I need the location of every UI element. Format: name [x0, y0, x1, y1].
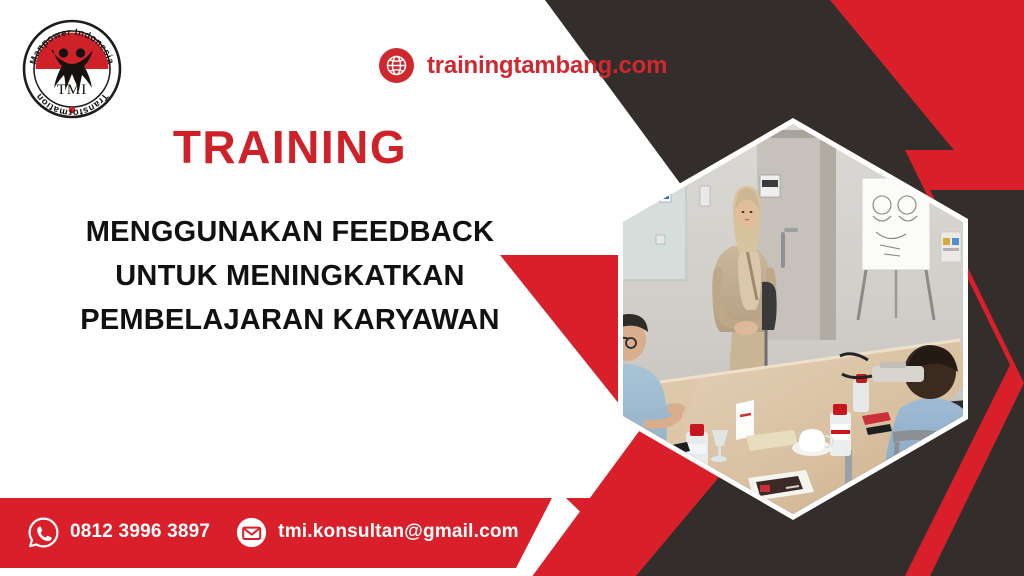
training-poster: TMI Manpower Indonesia Transformation	[0, 0, 1024, 576]
participant-right	[883, 345, 976, 520]
tent-card	[736, 400, 754, 440]
phone-left	[645, 442, 690, 460]
table-document	[746, 430, 798, 451]
photo-frame-border	[618, 118, 968, 520]
presenter-figure	[713, 186, 772, 396]
globe-icon	[379, 48, 414, 83]
charcoal-tip-right	[930, 190, 1024, 576]
contact-row: 0812 3996 3897 tmi.konsultan@gmail.com	[28, 515, 519, 549]
logo-monogram: TMI	[57, 82, 88, 98]
participant-left	[588, 314, 685, 486]
email-address[interactable]: tmi.konsultan@gmail.com	[278, 521, 519, 543]
email-contact[interactable]: tmi.konsultan@gmail.com	[236, 517, 519, 548]
brochure	[748, 470, 814, 501]
table-bottle-far	[853, 374, 869, 412]
meeting-table	[618, 340, 968, 520]
website-row[interactable]: trainingtambang.com	[379, 48, 667, 83]
table-glass	[711, 430, 728, 462]
whatsapp-number[interactable]: 0812 3996 3897	[70, 521, 210, 543]
whatsapp-contact[interactable]: 0812 3996 3897	[28, 517, 210, 548]
subtitle-line-3: PEMBELAJARAN KARYAWAN	[0, 298, 580, 342]
charcoal-overlay	[623, 0, 1024, 576]
whatsapp-icon	[28, 517, 59, 548]
remote	[866, 424, 892, 435]
red-panel	[660, 0, 1024, 576]
subtitle-line-2: UNTUK MENINGKATKAN	[0, 254, 580, 298]
bright-red-panel	[700, 0, 1024, 576]
table-bottle-left	[686, 424, 708, 474]
floor-outlet	[878, 467, 901, 492]
photo-content	[588, 110, 1000, 530]
website-url[interactable]: trainingtambang.com	[427, 52, 667, 80]
page-title: TRAINING	[0, 124, 580, 170]
projector	[840, 354, 924, 382]
subtitle-line-1: MENGGUNAKAN FEEDBACK	[0, 210, 580, 254]
tmi-logo: TMI Manpower Indonesia Transformation	[17, 14, 127, 124]
subtitle-block: MENGGUNAKAN FEEDBACK UNTUK MENINGKATKAN …	[0, 210, 580, 342]
coffee-cup	[792, 429, 833, 456]
footer-red-chevron	[566, 498, 648, 568]
red-chevron-right	[905, 150, 1024, 576]
envelope-icon	[236, 517, 267, 548]
table-bottle-right	[830, 404, 851, 456]
phone-right	[862, 412, 891, 425]
headline-block: TRAINING MENGGUNAKAN FEEDBACK UNTUK MENI…	[0, 124, 580, 342]
